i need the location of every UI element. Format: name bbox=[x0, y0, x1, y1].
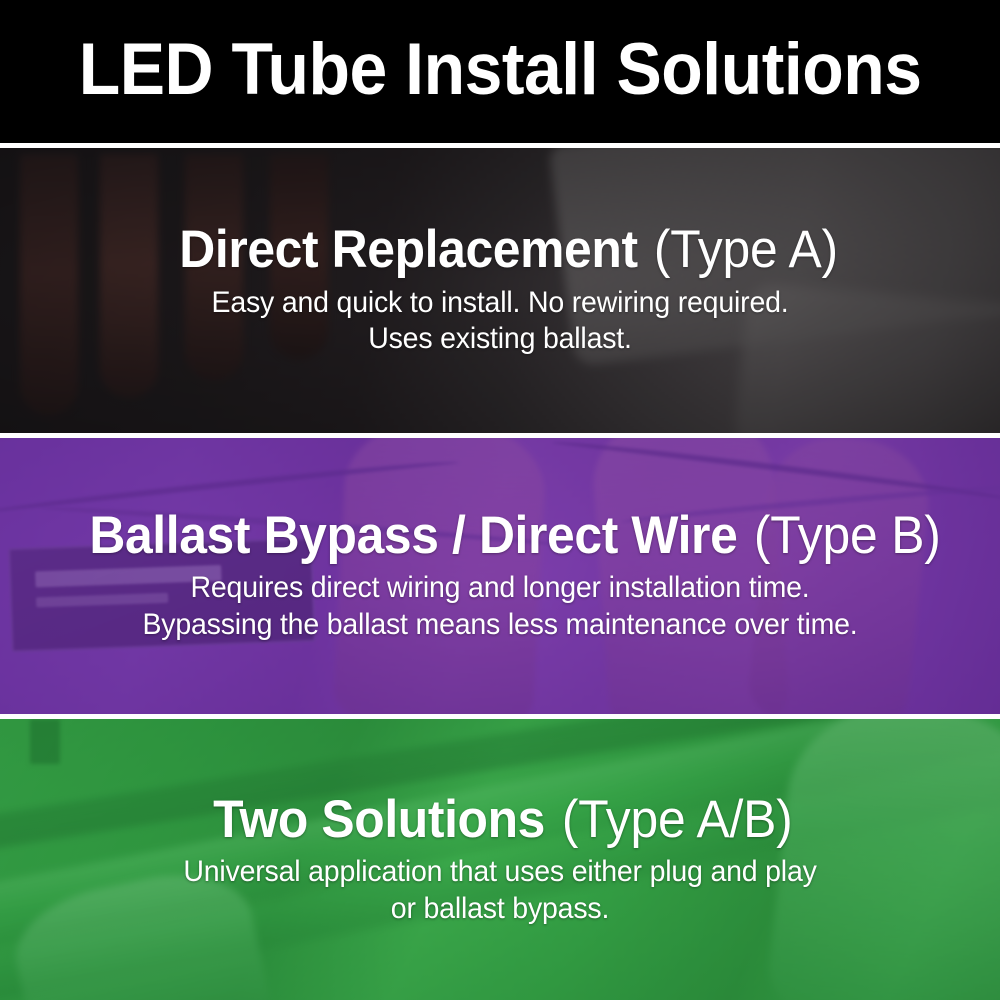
panel-type-ab-heading-type: (Type A/B) bbox=[560, 792, 793, 848]
panel-type-b: Ballast Bypass / Direct Wire (Type B) Re… bbox=[0, 438, 1000, 715]
panel-type-b-heading-main: Ballast Bypass / Direct Wire bbox=[89, 508, 737, 564]
panel-type-b-heading-type: (Type B) bbox=[752, 508, 941, 564]
led-tube-install-infographic: LED Tube Install Solutions Direct Replac… bbox=[0, 0, 1000, 1000]
panel-type-ab-heading: Two Solutions (Type A/B) bbox=[20, 792, 980, 848]
panel-type-b-body-line-2: Bypassing the ballast means less mainten… bbox=[44, 607, 956, 644]
panel-type-ab: Two Solutions (Type A/B) Universal appli… bbox=[0, 719, 1000, 1000]
panel-type-a-heading-type: (Type A) bbox=[652, 222, 838, 278]
panel-type-b-body-line-1: Requires direct wiring and longer instal… bbox=[44, 570, 956, 607]
panel-type-ab-body-line-2: or ballast bypass. bbox=[44, 891, 956, 928]
header-bar: LED Tube Install Solutions bbox=[0, 0, 1000, 143]
panel-type-a: Direct Replacement (Type A) Easy and qui… bbox=[0, 148, 1000, 433]
panel-type-b-heading: Ballast Bypass / Direct Wire (Type B) bbox=[20, 508, 980, 564]
panel-type-ab-heading-main: Two Solutions bbox=[214, 792, 546, 848]
panel-type-ab-body-line-1: Universal application that uses either p… bbox=[44, 854, 956, 891]
page-title: LED Tube Install Solutions bbox=[79, 33, 922, 110]
panel-type-a-body-line-2: Uses existing ballast. bbox=[44, 321, 956, 358]
panel-type-a-body: Easy and quick to install. No rewiring r… bbox=[20, 285, 980, 359]
panel-type-a-heading: Direct Replacement (Type A) bbox=[20, 222, 980, 278]
panel-type-ab-body: Universal application that uses either p… bbox=[20, 854, 980, 928]
panel-type-b-body: Requires direct wiring and longer instal… bbox=[20, 570, 980, 644]
panel-type-a-body-line-1: Easy and quick to install. No rewiring r… bbox=[44, 285, 956, 322]
panel-type-a-heading-main: Direct Replacement bbox=[179, 222, 637, 278]
